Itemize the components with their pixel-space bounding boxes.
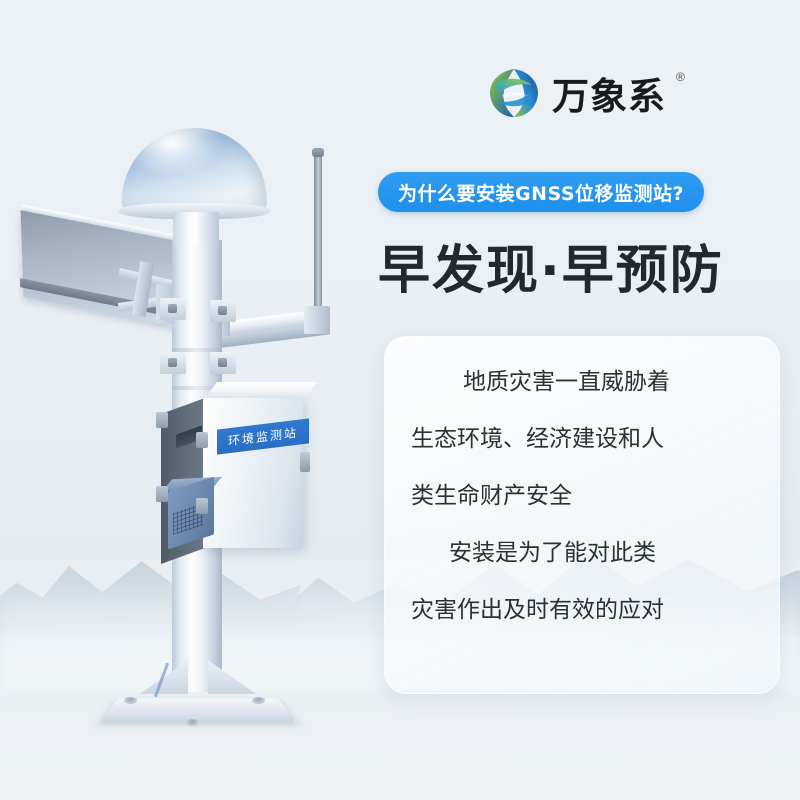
description-line-1: 地质灾害一直威胁着 xyxy=(411,371,753,394)
cabinet-hinge-2 xyxy=(196,498,208,514)
page-title: 早发现·早预防 xyxy=(378,228,724,303)
globe-swirl-logo-icon xyxy=(488,67,540,119)
whip-antenna-cap xyxy=(312,148,324,157)
trademark-icon: ® xyxy=(676,70,685,84)
gnss-antenna-neck xyxy=(173,212,219,246)
bracket-bolt-3 xyxy=(218,306,227,315)
cabinet-hinge-3 xyxy=(156,412,168,428)
content-column: 万象系 ® 为什么要安装GNSS位移监测站? 早发现·早预防 地质灾害一直威胁着… xyxy=(370,0,800,800)
base-bolt-hole-3 xyxy=(186,719,199,726)
bracket-bolt-2 xyxy=(168,358,177,367)
description-line-2: 生态环境、经济建设和人 xyxy=(411,428,753,451)
brand-lockup: 万象系 ® xyxy=(488,66,685,120)
cabinet-hinge-4 xyxy=(156,486,168,502)
base-bolt-hole-2 xyxy=(252,697,265,704)
description-line-4: 安装是为了能对此类 xyxy=(411,542,753,565)
whip-antenna xyxy=(314,152,322,330)
base-bolt-hole-1 xyxy=(124,697,137,704)
cabinet-name-plate-text: 环境监测站 xyxy=(228,424,298,450)
gnss-monitoring-station: 环境监测站 xyxy=(0,0,400,800)
brand-name: 万象系 xyxy=(552,66,666,120)
description-line-3: 类生命财产安全 xyxy=(411,485,753,508)
question-banner-text: 为什么要安装GNSS位移监测站? xyxy=(398,179,684,206)
gnss-antenna-dome xyxy=(122,128,267,212)
whip-antenna-mount xyxy=(304,306,330,334)
bracket-bolt-1 xyxy=(168,304,177,313)
question-banner: 为什么要安装GNSS位移监测站? xyxy=(378,172,704,212)
cabinet-hinge-1 xyxy=(196,432,208,448)
description-card: 地质灾害一直威胁着 生态环境、经济建设和人 类生命财产安全 安装是为了能对此类 … xyxy=(384,336,780,694)
poster-canvas: 环境监测站 xyxy=(0,0,800,800)
description-line-5: 灾害作出及时有效的应对 xyxy=(411,599,753,622)
bracket-bolt-4 xyxy=(218,358,227,367)
cabinet-latch xyxy=(300,452,310,472)
